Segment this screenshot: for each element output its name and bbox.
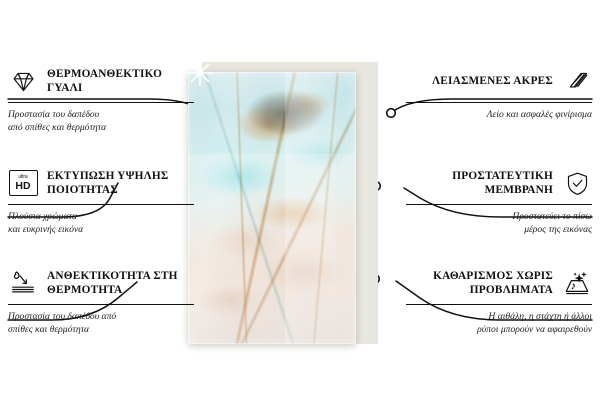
hd-badge-main-text: HD bbox=[15, 181, 30, 192]
callout-marker bbox=[387, 109, 396, 118]
ultra-hd-badge-icon: ultra HD bbox=[8, 168, 38, 198]
feature-description: Πλούσια χρώματακαι ευκρινής εικόνα bbox=[8, 210, 194, 236]
infographic-stage: ΘΕΡΜΟΑΝΘΕΚΤΙΚΟ ΓΥΑΛΙ Προστασία του δαπέδ… bbox=[0, 0, 600, 400]
heat-resistance-icon bbox=[8, 268, 38, 298]
feature-easy-cleaning: ΚΑΘΑΡΙΣΜΟΣ ΧΩΡΙΣ ΠΡΟΒΛΗΜΑΤΑ Η αιθάλη, η … bbox=[406, 266, 592, 336]
feature-description: Λείο και ασφαλές φινίρισμα bbox=[406, 108, 592, 121]
glass-gloss bbox=[188, 72, 356, 344]
feature-header: ultra HD ΕΚΤΥΠΩΣΗ ΥΨΗΛΗΣ ΠΟΙΟΤΗΤΑΣ bbox=[8, 166, 194, 200]
feature-header: ΘΕΡΜΟΑΝΘΕΚΤΙΚΟ ΓΥΑΛΙ bbox=[8, 64, 194, 98]
feature-header: ΚΑΘΑΡΙΣΜΟΣ ΧΩΡΙΣ ΠΡΟΒΛΗΜΑΤΑ bbox=[406, 266, 592, 300]
feature-title: ΘΕΡΜΟΑΝΘΕΚΤΙΚΟ ΓΥΑΛΙ bbox=[47, 67, 194, 96]
product-image bbox=[188, 62, 378, 350]
feature-protective-film: ΠΡΟΣΤΑΤΕΥΤΙΚΗ ΜΕΜΒΡΑΝΗ Προστατεύει το πί… bbox=[406, 166, 592, 236]
feature-heat-durability: ΑΝΘΕΚΤΙΚΟΤΗΤΑ ΣΤΗ ΘΕΡΜΟΤΗΤΑ Προστασία το… bbox=[8, 266, 194, 336]
feature-divider bbox=[8, 102, 194, 103]
glass-panel bbox=[188, 72, 356, 344]
feature-description: Προστασία του δαπέδουαπό σπίθες και θερμ… bbox=[8, 108, 194, 134]
feature-title: ΛΕΙΑΣΜΕΝΕΣ ΑΚΡΕΣ bbox=[406, 74, 553, 88]
feature-high-quality-print: ultra HD ΕΚΤΥΠΩΣΗ ΥΨΗΛΗΣ ΠΟΙΟΤΗΤΑΣ Πλούσ… bbox=[8, 166, 194, 236]
feature-polished-edges: ΛΕΙΑΣΜΕΝΕΣ ΑΚΡΕΣ Λείο και ασφαλές φινίρι… bbox=[406, 64, 592, 121]
feature-divider bbox=[406, 204, 592, 205]
feature-description: Προστασία του δαπέδου απόσπίθες και θερμ… bbox=[8, 310, 194, 336]
diamond-icon bbox=[8, 66, 38, 96]
feature-divider bbox=[8, 204, 194, 205]
feature-divider bbox=[406, 304, 592, 305]
feature-header: ΑΝΘΕΚΤΙΚΟΤΗΤΑ ΣΤΗ ΘΕΡΜΟΤΗΤΑ bbox=[8, 266, 194, 300]
feature-divider bbox=[406, 102, 592, 103]
feature-title: ΠΡΟΣΤΑΤΕΥΤΙΚΗ ΜΕΜΒΡΑΝΗ bbox=[406, 169, 553, 198]
feature-header: ΛΕΙΑΣΜΕΝΕΣ ΑΚΡΕΣ bbox=[406, 64, 592, 98]
feature-header: ΠΡΟΣΤΑΤΕΥΤΙΚΗ ΜΕΜΒΡΑΝΗ bbox=[406, 166, 592, 200]
feature-description: Προστατεύει το πίσωμέρος της εικόνας bbox=[406, 210, 592, 236]
feature-divider bbox=[8, 304, 194, 305]
polished-edges-icon bbox=[562, 66, 592, 96]
easy-cleaning-icon bbox=[562, 268, 592, 298]
feature-title: ΑΝΘΕΚΤΙΚΟΤΗΤΑ ΣΤΗ ΘΕΡΜΟΤΗΤΑ bbox=[47, 269, 194, 298]
feature-description: Η αιθάλη, η στάχτη ή άλλοιρύποι μπορούν … bbox=[406, 310, 592, 336]
shield-check-icon bbox=[562, 168, 592, 198]
feature-title: ΕΚΤΥΠΩΣΗ ΥΨΗΛΗΣ ΠΟΙΟΤΗΤΑΣ bbox=[47, 169, 194, 198]
feature-heat-resistant-glass: ΘΕΡΜΟΑΝΘΕΚΤΙΚΟ ΓΥΑΛΙ Προστασία του δαπέδ… bbox=[8, 64, 194, 134]
feature-title: ΚΑΘΑΡΙΣΜΟΣ ΧΩΡΙΣ ΠΡΟΒΛΗΜΑΤΑ bbox=[406, 269, 553, 298]
